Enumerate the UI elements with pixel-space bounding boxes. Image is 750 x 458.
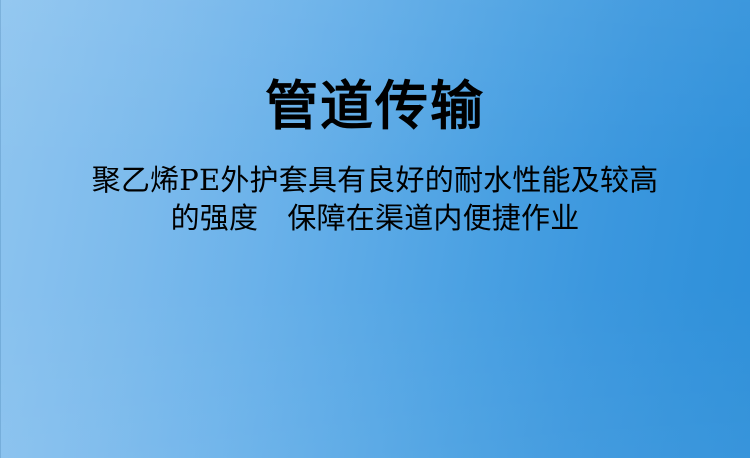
banner-subtitle: 聚乙烯PE外护套具有良好的耐水性能及较高 的强度 保障在渠道内便捷作业 (0, 161, 750, 237)
banner-subtitle-line-2: 的强度 保障在渠道内便捷作业 (0, 199, 750, 237)
banner-title: 管道传输 (0, 78, 750, 136)
product-feature-banner: 管道传输 聚乙烯PE外护套具有良好的耐水性能及较高 的强度 保障在渠道内便捷作业 (0, 0, 750, 458)
banner-content: 管道传输 聚乙烯PE外护套具有良好的耐水性能及较高 的强度 保障在渠道内便捷作业 (0, 0, 750, 458)
banner-subtitle-line-1: 聚乙烯PE外护套具有良好的耐水性能及较高 (0, 161, 750, 199)
